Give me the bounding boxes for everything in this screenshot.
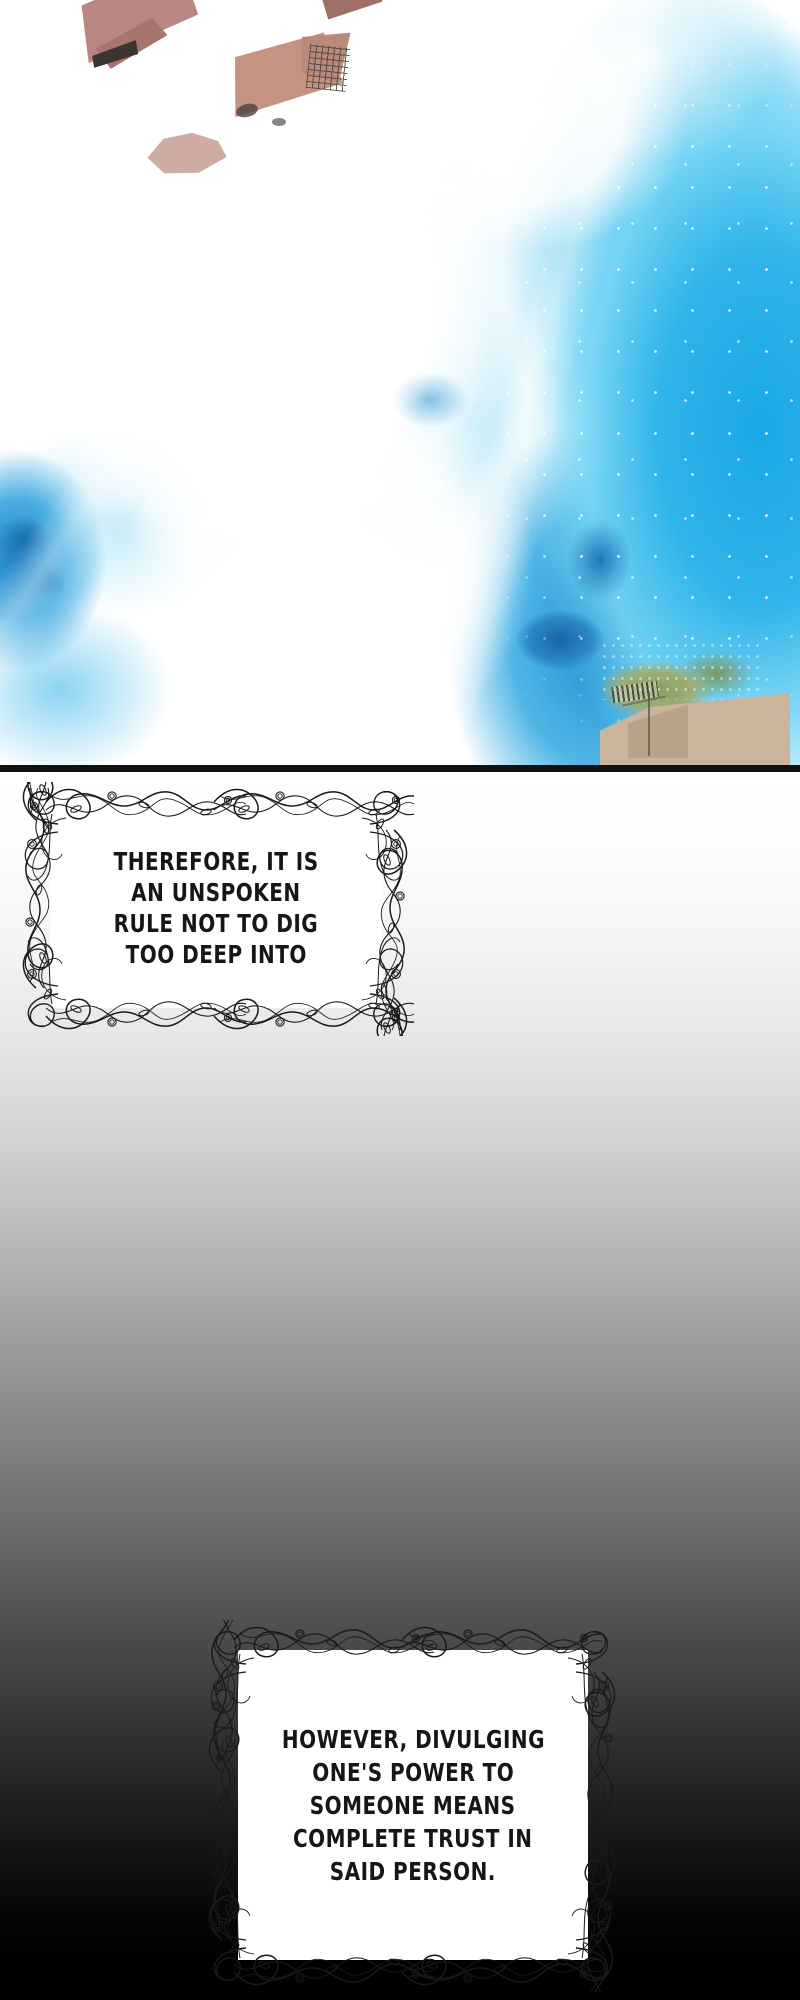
caption-bottom-line-4: COMPLETE TRUST IN xyxy=(293,1822,533,1855)
caption-box-bottom: HOWEVER, DIVULGING ONE'S POWER TO SOMEON… xyxy=(202,1620,622,1992)
caption-bottom-line-5: SAID PERSON. xyxy=(330,1855,496,1888)
railing-post xyxy=(648,692,650,756)
scaffold-lattice xyxy=(306,44,350,92)
caption-bottom-line-3: SOMEONE MEANS xyxy=(310,1789,516,1822)
panel-landscape-artwork xyxy=(0,0,800,765)
caption-bottom-text: HOWEVER, DIVULGING ONE'S POWER TO SOMEON… xyxy=(238,1650,588,1960)
caption-top-line-2: AN UNSPOKEN xyxy=(131,877,300,908)
caption-top-line-3: RULE NOT TO DIG xyxy=(114,908,319,939)
caption-top-text: THEREFORE, IT IS AN UNSPOKEN RULE NOT TO… xyxy=(50,808,382,1008)
caption-bottom-line-1: HOWEVER, DIVULGING xyxy=(281,1723,544,1756)
caption-box-top: THEREFORE, IT IS AN UNSPOKEN RULE NOT TO… xyxy=(16,782,414,1036)
comic-page: THEREFORE, IT IS AN UNSPOKEN RULE NOT TO… xyxy=(0,0,800,2000)
panel-divider xyxy=(0,765,800,772)
caption-top-line-1: THEREFORE, IT IS xyxy=(114,846,319,877)
caption-top-line-4: TOO DEEP INTO xyxy=(125,939,306,970)
caption-bottom-line-2: ONE'S POWER TO xyxy=(312,1756,514,1789)
dark-debris-b xyxy=(272,118,286,126)
